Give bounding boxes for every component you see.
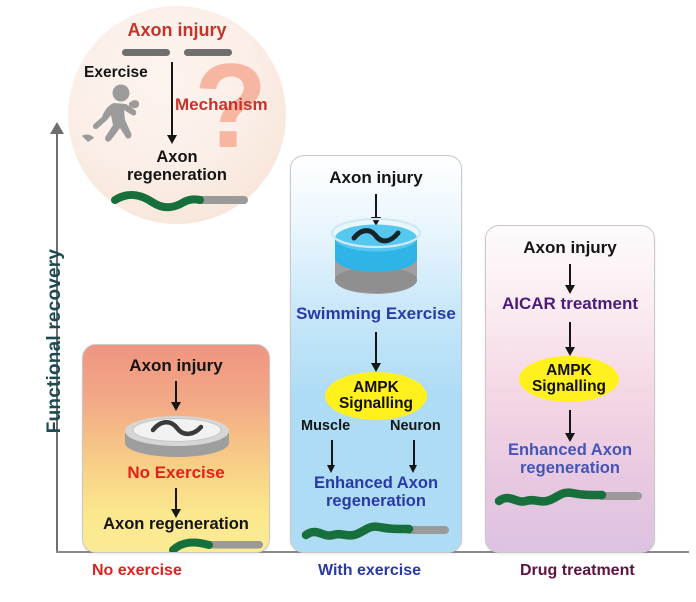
inset-outcome-line1: Axon [156, 148, 197, 166]
short-regenerating-axon-icon [169, 535, 267, 553]
panel2-ampk-line2: Signalling [339, 395, 413, 412]
panel3-arrow-2 [569, 322, 571, 348]
panel2-injury-label: Axon injury [291, 168, 461, 188]
x-axis-label-no-exercise: No exercise [92, 562, 182, 580]
mechanism-inset-circle: Axon injury Exercise ? Mechanism Axon [68, 6, 286, 224]
panel1-arrow-1 [175, 381, 177, 403]
inset-outcome-label: Axon regeneration [68, 148, 286, 184]
panel1-arrow-2 [175, 488, 177, 510]
long-regenerating-axon-icon [301, 518, 453, 549]
bar-panel-with-exercise: Axon injury Swimming Exercise AMPK Signa… [290, 155, 462, 553]
petri-dish-with-worm-icon [121, 407, 233, 464]
inset-arrow [171, 62, 173, 136]
panel1-outcome-label: Axon regeneration [83, 515, 269, 534]
panel3-outcome-label: Enhanced Axon regeneration [486, 441, 654, 478]
panel2-condition-label: Swimming Exercise [291, 304, 461, 324]
panel3-injury-label: Axon injury [486, 238, 654, 258]
panel3-condition-label: AICAR treatment [486, 294, 654, 314]
beaker-with-swimming-worm-icon [323, 218, 429, 307]
y-axis-arrowhead [50, 122, 64, 134]
panel2-ampk-line1: AMPK [353, 379, 399, 396]
panel2-outcome-line1: Enhanced Axon [314, 474, 438, 492]
x-axis-label-drug-treatment: Drug treatment [520, 562, 635, 580]
panel3-arrow-1 [569, 264, 571, 286]
inset-title: Axon injury [68, 20, 286, 41]
panel3-arrow-3 [569, 410, 571, 434]
x-axis-label-with-exercise: With exercise [318, 562, 421, 580]
inset-outcome-line2: regeneration [127, 166, 227, 184]
panel2-outcome-line2: regeneration [326, 492, 426, 510]
bar-panel-no-exercise: Axon injury No Exercise Axon regeneratio… [82, 344, 270, 553]
inset-mechanism-label: Mechanism [175, 95, 268, 115]
panel2-arrow-neuron [413, 440, 415, 466]
panel3-outcome-line2: regeneration [520, 459, 620, 477]
panel2-arrow-1 [375, 194, 377, 218]
panel3-ampk-signalling-badge: AMPK Signalling [519, 356, 619, 402]
regenerating-axon-icon [110, 188, 252, 219]
inset-exercise-label: Exercise [84, 64, 148, 82]
panel2-arrow-2 [375, 332, 377, 364]
bar-panel-drug-treatment: Axon injury AICAR treatment AMPK Signall… [485, 225, 655, 553]
panel3-outcome-line1: Enhanced Axon [508, 441, 632, 459]
panel1-condition-label: No Exercise [83, 463, 269, 483]
panel2-arrow-muscle [331, 440, 333, 466]
y-axis-label: Functional recovery [44, 216, 66, 466]
panel3-ampk-line1: AMPK [546, 362, 592, 379]
panel2-ampk-signalling-badge: AMPK Signalling [325, 372, 427, 420]
panel1-injury-label: Axon injury [83, 356, 269, 376]
panel3-ampk-line2: Signalling [532, 378, 606, 395]
running-person-icon [80, 84, 158, 155]
panel2-branch-label-muscle: Muscle [301, 418, 350, 434]
panel2-branch-label-neuron: Neuron [390, 418, 441, 434]
long-regenerating-axon-icon [494, 484, 646, 515]
panel2-outcome-label: Enhanced Axon regeneration [291, 474, 461, 511]
figure-canvas: Functional recovery No exercise With exe… [0, 0, 696, 602]
